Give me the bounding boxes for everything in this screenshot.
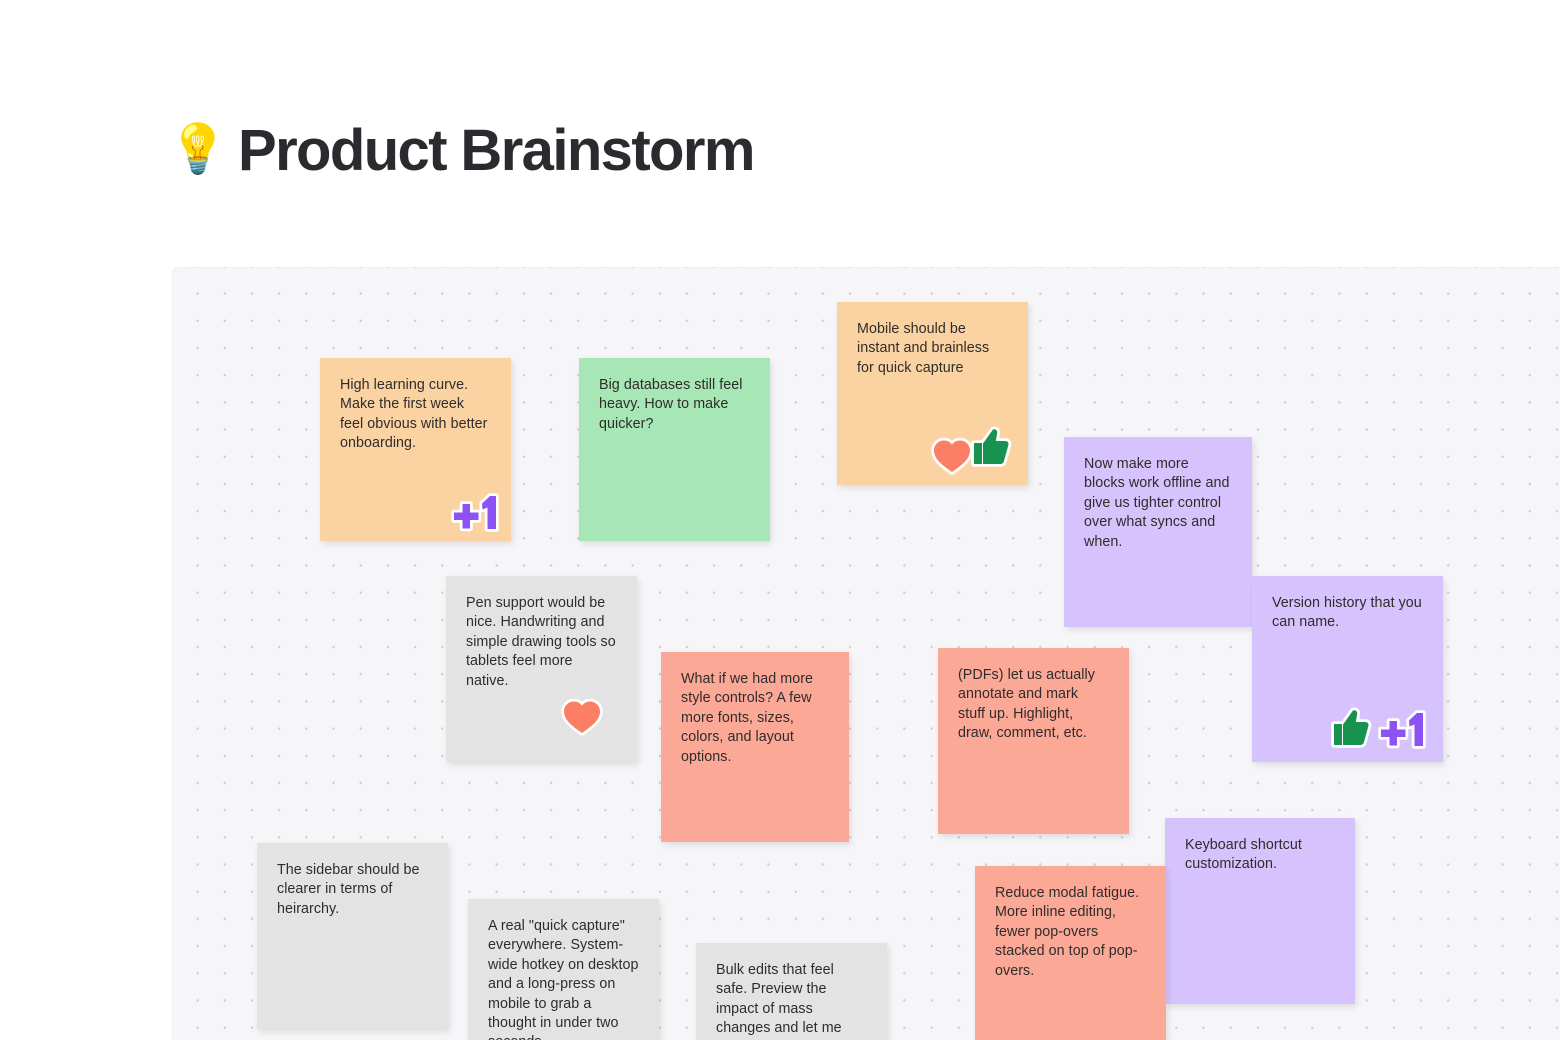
sticky-note-text: Keyboard shortcut customization.: [1185, 836, 1335, 875]
sticky-note-onboarding[interactable]: High learning curve. Make the first week…: [320, 358, 511, 541]
reaction-group[interactable]: [560, 696, 604, 736]
brainstorm-board-page: 💡 Product Brainstorm High learning curve…: [0, 0, 1560, 1040]
heart-icon[interactable]: [560, 696, 604, 736]
sticky-note-pdf-annotation[interactable]: (PDFs) let us actually annotate and mark…: [938, 648, 1129, 834]
sticky-note-text: Version history that you can name.: [1272, 594, 1423, 633]
sticky-note-databases[interactable]: Big databases still feel heavy. How to m…: [579, 358, 770, 541]
sticky-note-quick-capture[interactable]: A real "quick capture" everywhere. Syste…: [468, 899, 659, 1040]
whiteboard-canvas[interactable]: High learning curve. Make the first week…: [172, 267, 1560, 1040]
sticky-note-text: Reduce modal fatigue. More inline editin…: [995, 884, 1146, 981]
reaction-group[interactable]: [930, 425, 1012, 475]
lightbulb-emoji: 💡: [168, 126, 220, 174]
sticky-note-text: Mobile should be instant and brainless f…: [857, 320, 1008, 378]
sticky-note-bulk-edits[interactable]: Bulk edits that feel safe. Preview the i…: [696, 943, 887, 1040]
sticky-note-pen-support[interactable]: Pen support would be nice. Handwriting a…: [446, 576, 637, 762]
sticky-note-sidebar[interactable]: The sidebar should be clearer in terms o…: [257, 843, 448, 1029]
sticky-note-version-history[interactable]: Version history that you can name.: [1252, 576, 1443, 762]
sticky-note-keyboard-shortcut[interactable]: Keyboard shortcut customization.: [1165, 818, 1355, 1004]
reaction-group[interactable]: [1330, 706, 1427, 750]
heart-icon[interactable]: [930, 435, 974, 475]
plus-one-icon[interactable]: [450, 489, 500, 533]
plus-one-icon[interactable]: [1377, 706, 1427, 750]
sticky-note-text: Bulk edits that feel safe. Preview the i…: [716, 961, 867, 1040]
sticky-note-text: High learning curve. Make the first week…: [340, 376, 491, 454]
sticky-note-mobile[interactable]: Mobile should be instant and brainless f…: [837, 302, 1028, 485]
page-title: Product Brainstorm: [238, 117, 754, 184]
sticky-note-text: A real "quick capture" everywhere. Syste…: [488, 917, 639, 1040]
sticky-note-offline[interactable]: Now make more blocks work offline and gi…: [1064, 437, 1252, 627]
sticky-note-style-controls[interactable]: What if we had more style controls? A fe…: [661, 652, 849, 842]
sticky-note-text: The sidebar should be clearer in terms o…: [277, 861, 428, 919]
thumbs-up-icon[interactable]: [1330, 706, 1372, 750]
sticky-note-text: Pen support would be nice. Handwriting a…: [466, 594, 617, 691]
sticky-note-text: (PDFs) let us actually annotate and mark…: [958, 666, 1109, 744]
thumbs-up-icon[interactable]: [970, 425, 1012, 469]
sticky-note-text: What if we had more style controls? A fe…: [681, 670, 829, 767]
board-header: 💡 Product Brainstorm: [168, 104, 754, 196]
reaction-group[interactable]: [450, 489, 500, 533]
sticky-note-text: Now make more blocks work offline and gi…: [1084, 455, 1232, 552]
sticky-note-modal-fatigue[interactable]: Reduce modal fatigue. More inline editin…: [975, 866, 1166, 1040]
sticky-note-text: Big databases still feel heavy. How to m…: [599, 376, 750, 434]
